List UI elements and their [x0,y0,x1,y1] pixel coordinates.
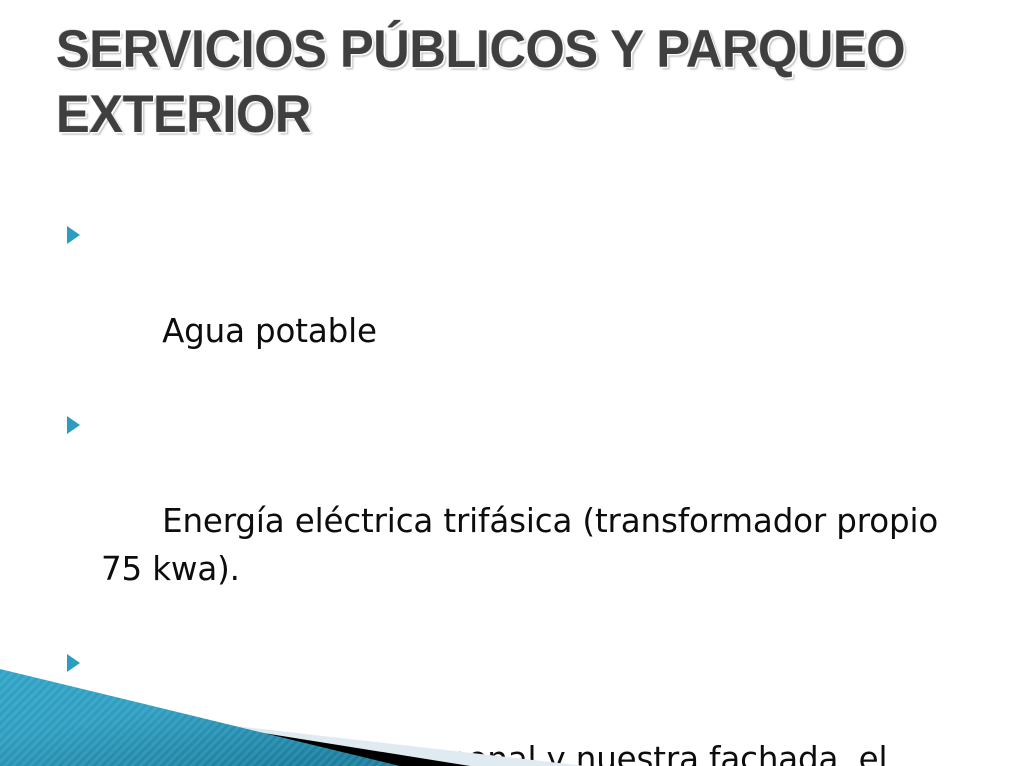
list-item-text: Energía eléctrica trifásica (transformad… [101,502,948,588]
list-item: Agua potable [56,213,956,403]
bullet-triangle-icon [67,416,80,434]
list-item-text: Agua potable [162,312,377,350]
list-item: Entre la via a mamonal y nuestra fachada… [56,641,956,766]
bullet-triangle-icon [67,654,80,672]
page-title: SERVICIOS PÚBLICOS Y PARQUEO EXTERIOR [56,18,916,147]
bullet-list: Agua potable Energía eléctrica trifásica… [56,213,956,766]
title-block: SERVICIOS PÚBLICOS Y PARQUEO EXTERIOR [56,18,956,147]
list-item: Energía eléctrica trifásica (transformad… [56,403,956,641]
slide-canvas: SERVICIOS PÚBLICOS Y PARQUEO EXTERIOR Ag… [0,0,1024,766]
list-item-text: Entre la via a mamonal y nuestra fachada… [101,740,898,766]
bullet-triangle-icon [67,226,80,244]
